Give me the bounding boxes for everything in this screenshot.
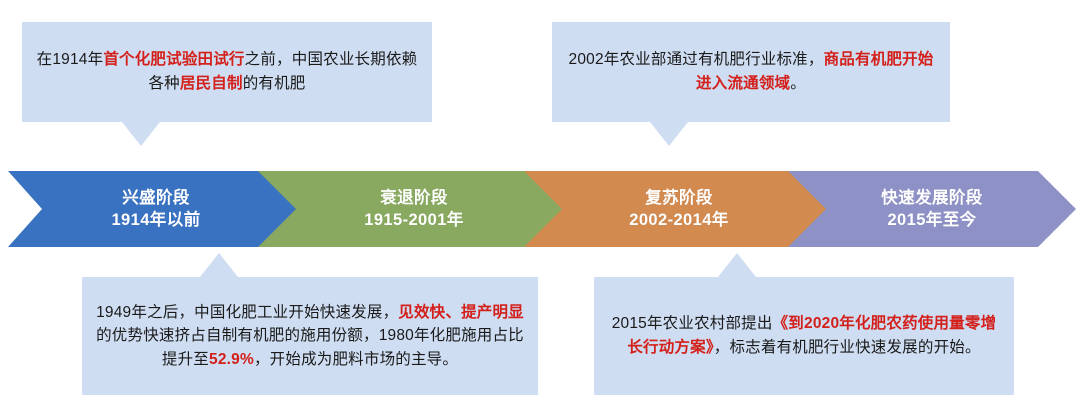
callout-tail-1914 xyxy=(122,122,160,146)
callout-tail-1949 xyxy=(200,253,238,277)
plain-text-run: 的有机肥 xyxy=(243,75,306,92)
timeline-band: 兴盛阶段 1914年以前 衰退阶段 1915-2001年 复苏阶段 2002-2… xyxy=(0,171,1080,247)
callout-text-1949: 1949年之后，中国化肥工业开始快速发展，见效快、提产明显的优势快速挤占自制有机… xyxy=(82,301,538,372)
segment-label-name: 复苏阶段 xyxy=(629,187,728,209)
callout-text-2015: 2015年农业农村部提出《到2020年化肥农药使用量零增长行动方案》，标志着有机… xyxy=(594,312,1014,359)
timeline-segment-prosperity[interactable]: 兴盛阶段 1914年以前 xyxy=(8,171,304,247)
highlighted-text-run: 首个化肥试验田试行 xyxy=(103,51,244,68)
timeline-segment-decline[interactable]: 衰退阶段 1915-2001年 xyxy=(258,171,570,247)
segment-label-name: 衰退阶段 xyxy=(364,187,463,209)
highlighted-text-run: 居民自制 xyxy=(180,75,243,92)
plain-text-run: 2015年农业农村部提出 xyxy=(612,315,773,332)
callout-tail-2002 xyxy=(650,122,688,146)
segment-label-name: 快速发展阶段 xyxy=(881,187,982,209)
timeline-segment-rapid-growth[interactable]: 快速发展阶段 2015年至今 xyxy=(788,171,1076,247)
plain-text-run: 1949年之后，中国化肥工业开始快速发展， xyxy=(96,304,398,321)
callout-box-2002: 2002年农业部通过有机肥行业标准，商品有机肥开始进入流通领域。 xyxy=(552,22,950,122)
callout-text-2002: 2002年农业部通过有机肥行业标准，商品有机肥开始进入流通领域。 xyxy=(552,48,950,95)
callout-box-1914: 在1914年首个化肥试验田试行之前，中国农业长期依赖各种居民自制的有机肥 xyxy=(22,22,432,122)
callout-box-2015: 2015年农业农村部提出《到2020年化肥农药使用量零增长行动方案》，标志着有机… xyxy=(594,277,1014,395)
plain-text-run: 在1914年 xyxy=(37,51,104,68)
segment-label-period: 1915-2001年 xyxy=(364,209,463,231)
segment-label-period: 2015年至今 xyxy=(881,209,982,231)
segment-label-period: 2002-2014年 xyxy=(629,209,728,231)
callout-text-1914: 在1914年首个化肥试验田试行之前，中国农业长期依赖各种居民自制的有机肥 xyxy=(22,48,432,95)
plain-text-run: ，标志着有机肥行业快速发展的开始。 xyxy=(714,339,981,356)
plain-text-run: 2002年农业部通过有机肥行业标准， xyxy=(569,51,824,68)
callout-box-1949: 1949年之后，中国化肥工业开始快速发展，见效快、提产明显的优势快速挤占自制有机… xyxy=(82,277,538,395)
segment-label-name: 兴盛阶段 xyxy=(111,187,200,209)
timeline-segment-recovery[interactable]: 复苏阶段 2002-2014年 xyxy=(524,171,834,247)
plain-text-run: ，开始成为肥料市场的主导。 xyxy=(254,351,458,368)
callout-tail-2015 xyxy=(718,253,756,277)
plain-text-run: 。 xyxy=(790,75,806,92)
segment-label-period: 1914年以前 xyxy=(111,209,200,231)
highlighted-text-run: 见效快、提产明显 xyxy=(398,304,524,321)
highlighted-text-run: 52.9% xyxy=(209,351,254,368)
